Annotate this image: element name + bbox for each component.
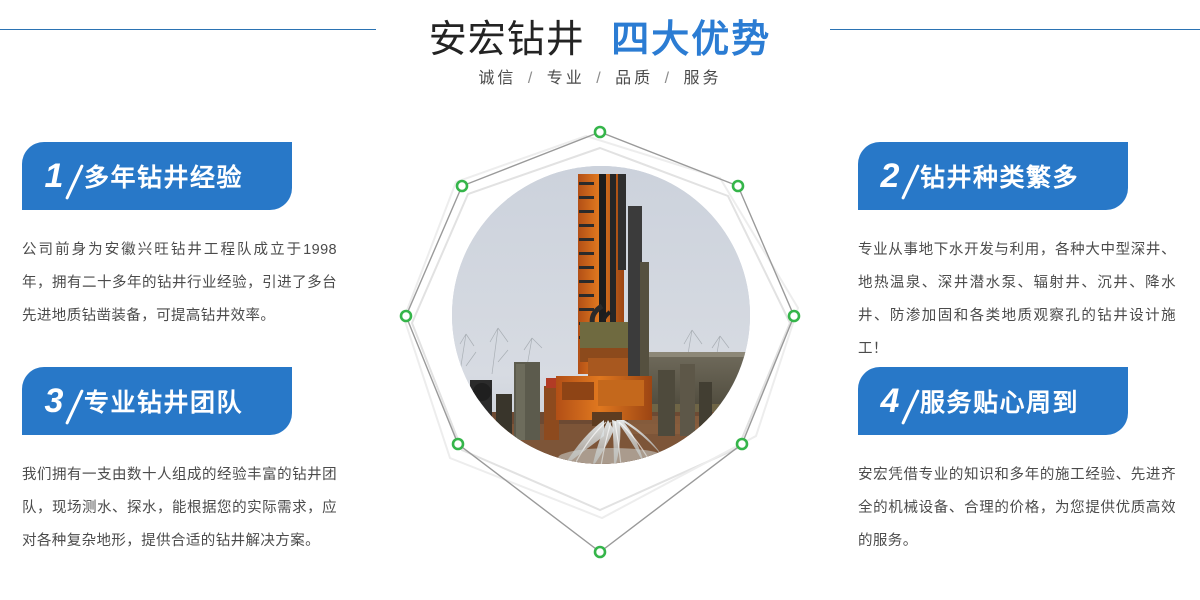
- feature-1-title: 多年钻井经验: [84, 158, 243, 194]
- feature-4-title: 服务贴心周到: [920, 383, 1079, 419]
- subtitle-separator-1: /: [528, 70, 535, 87]
- feature-4-number-icon: 4: [858, 384, 914, 418]
- feature-3-number-icon: 3: [22, 384, 78, 418]
- page-header: 安宏钻井 四大优势 诚信 / 专业 / 品质 / 服务: [0, 0, 1200, 110]
- feature-3-badge[interactable]: 3 专业钻井团队: [22, 367, 292, 435]
- feature-4-body: 安宏凭借专业的知识和多年的施工经验、先进齐全的机械设备、合理的价格，为您提供优质…: [858, 459, 1176, 558]
- feature-card-4[interactable]: 4 服务贴心周到 安宏凭借专业的知识和多年的施工经验、先进齐全的机械设备、合理的…: [858, 367, 1178, 558]
- subtitle-item-1: 诚信: [478, 70, 516, 87]
- feature-card-3[interactable]: 3 专业钻井团队 我们拥有一支由数十人组成的经验丰富的钻井团队，现场测水、探水，…: [22, 367, 342, 558]
- center-graphic: [390, 118, 810, 578]
- page-subtitle: 诚信 / 专业 / 品质 / 服务: [0, 64, 1200, 88]
- page-title-main: 安宏钻井: [429, 19, 585, 61]
- feature-card-2[interactable]: 2 钻井种类繁多 专业从事地下水开发与利用，各种大中型深井、地热温泉、深井潜水泵…: [858, 142, 1178, 366]
- subtitle-item-4: 服务: [684, 70, 722, 87]
- drilling-site-photo-graphic: [452, 166, 750, 464]
- feature-2-title: 钻井种类繁多: [920, 158, 1079, 194]
- feature-1-number-icon: 1: [22, 159, 78, 193]
- feature-2-number-icon: 2: [858, 159, 914, 193]
- feature-2-body: 专业从事地下水开发与利用，各种大中型深井、地热温泉、深井潜水泵、辐射井、沉井、降…: [858, 234, 1176, 366]
- feature-2-badge[interactable]: 2 钻井种类繁多: [858, 142, 1128, 210]
- feature-1-body: 公司前身为安徽兴旺钻井工程队成立于1998年，拥有二十多年的钻井行业经验，引进了…: [22, 234, 337, 333]
- subtitle-separator-2: /: [596, 70, 603, 87]
- feature-3-title: 专业钻井团队: [84, 383, 243, 419]
- feature-4-badge[interactable]: 4 服务贴心周到: [858, 367, 1128, 435]
- subtitle-item-2: 专业: [547, 70, 585, 87]
- feature-3-body: 我们拥有一支由数十人组成的经验丰富的钻井团队，现场测水、探水，能根据您的实际需求…: [22, 459, 337, 558]
- page-title: 安宏钻井 四大优势: [0, 8, 1200, 63]
- drilling-site-photo: [452, 166, 750, 464]
- feature-card-1[interactable]: 1 多年钻井经验 公司前身为安徽兴旺钻井工程队成立于1998年，拥有二十多年的钻…: [22, 142, 342, 333]
- feature-1-badge[interactable]: 1 多年钻井经验: [22, 142, 292, 210]
- page-title-accent: 四大优势: [611, 19, 771, 61]
- subtitle-separator-3: /: [665, 70, 672, 87]
- promo-page: 安宏钻井 四大优势 诚信 / 专业 / 品质 / 服务 1 多年钻井经验 公司前…: [0, 0, 1200, 600]
- subtitle-item-3: 品质: [615, 70, 653, 87]
